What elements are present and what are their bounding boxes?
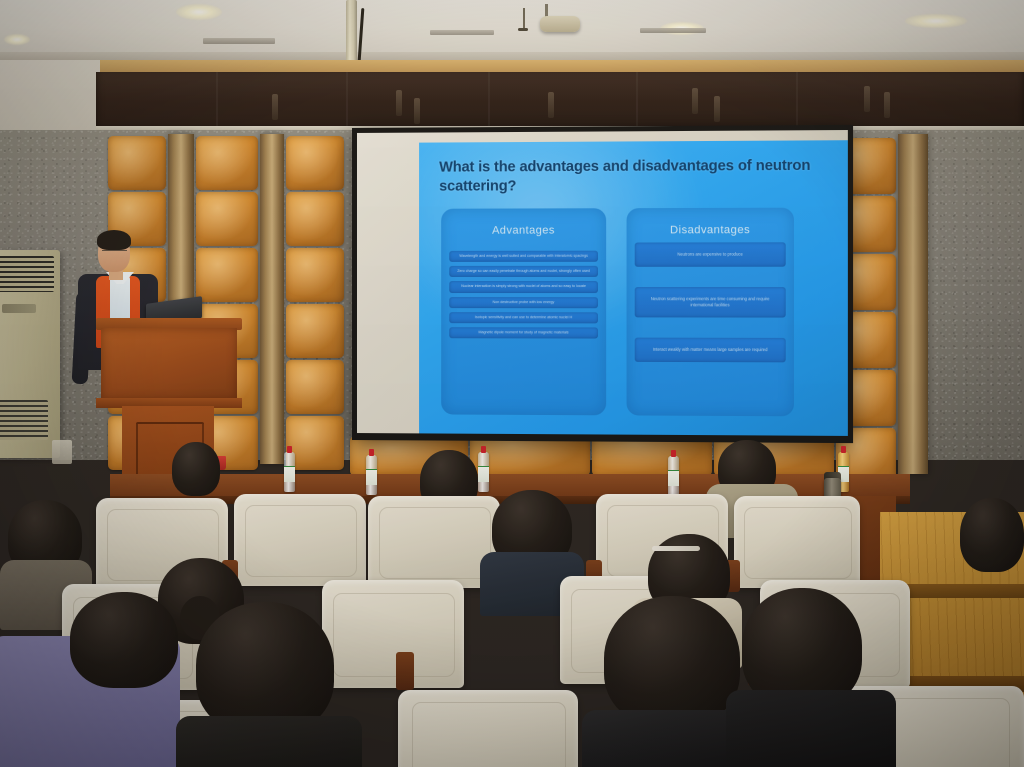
list-item: Neutron scattering experiments are time … xyxy=(635,287,786,317)
list-item: Neutrons are expensive to produce xyxy=(635,242,786,266)
presentation-slide: What is the advantages and disadvantages… xyxy=(419,140,848,436)
curtain-valance xyxy=(96,72,1024,132)
speaker-hair xyxy=(97,230,131,250)
screen-surface: What is the advantages and disadvantages… xyxy=(357,130,848,436)
smoke-detector-icon xyxy=(540,16,580,32)
downlight-icon xyxy=(905,14,967,28)
ceiling xyxy=(0,0,1024,60)
advantages-panel: Advantages Wavelength and energy is well… xyxy=(441,208,606,415)
audience-head xyxy=(70,592,178,688)
audience-head xyxy=(604,596,740,726)
ac-grille xyxy=(0,256,54,292)
ac-grille xyxy=(0,400,48,440)
disadvantages-bullet-list: Neutrons are expensive to produce Neutro… xyxy=(635,242,786,362)
lectern-face xyxy=(101,328,237,400)
ceiling-vent xyxy=(430,30,494,35)
seat-armrest xyxy=(396,652,414,690)
advantages-heading: Advantages xyxy=(441,224,606,236)
downlight-icon xyxy=(4,34,30,45)
list-item: Wavelength and energy is well suited and… xyxy=(449,251,598,262)
air-conditioner xyxy=(0,250,60,458)
ac-logo xyxy=(2,304,36,313)
seat xyxy=(322,580,464,688)
audience-head xyxy=(196,602,334,734)
water-bottle xyxy=(478,452,489,492)
water-bottle xyxy=(366,455,377,495)
disadvantages-panel: Disadvantages Neutrons are expensive to … xyxy=(627,208,794,417)
list-item: Zero charge so can easily penetrate thro… xyxy=(449,266,598,277)
marble-pilaster xyxy=(898,134,928,474)
projection-screen: What is the advantages and disadvantages… xyxy=(352,125,853,443)
audience-head xyxy=(172,442,220,496)
water-bottle xyxy=(284,452,295,492)
seat xyxy=(398,690,578,767)
list-item: Isotopic sensitivity and can use to dete… xyxy=(449,312,598,323)
list-item: Magnetic dipole moment for study of magn… xyxy=(449,327,598,339)
seat xyxy=(234,494,366,586)
ceiling-vent xyxy=(203,38,275,44)
seat xyxy=(734,496,860,588)
upper-left-wall xyxy=(0,60,100,138)
wall-outlet-box xyxy=(52,440,72,464)
acoustic-panel-column xyxy=(286,136,344,470)
water-bottle xyxy=(668,456,679,496)
glasses-icon xyxy=(102,250,127,257)
ceiling-vent xyxy=(640,28,706,33)
disadvantages-heading: Disadvantages xyxy=(627,224,794,237)
list-item: Non destructive probe with low energy xyxy=(449,297,598,308)
downlight-icon xyxy=(176,4,222,20)
sprinkler-drop xyxy=(523,8,525,30)
advantages-bullet-list: Wavelength and energy is well suited and… xyxy=(449,251,598,339)
audience-head xyxy=(960,498,1024,572)
marble-pilaster xyxy=(260,134,284,464)
list-item: Interact weakly with matter means large … xyxy=(635,337,786,362)
lecture-hall-photo: What is the advantages and disadvantages… xyxy=(0,0,1024,767)
list-item: Nuclear interaction is simply strong wit… xyxy=(449,281,598,292)
audience-clothing xyxy=(726,690,896,767)
audience-clothing xyxy=(176,716,362,767)
headband xyxy=(652,546,700,551)
slide-title: What is the advantages and disadvantages… xyxy=(439,157,819,196)
sprinkler-icon xyxy=(518,28,528,31)
